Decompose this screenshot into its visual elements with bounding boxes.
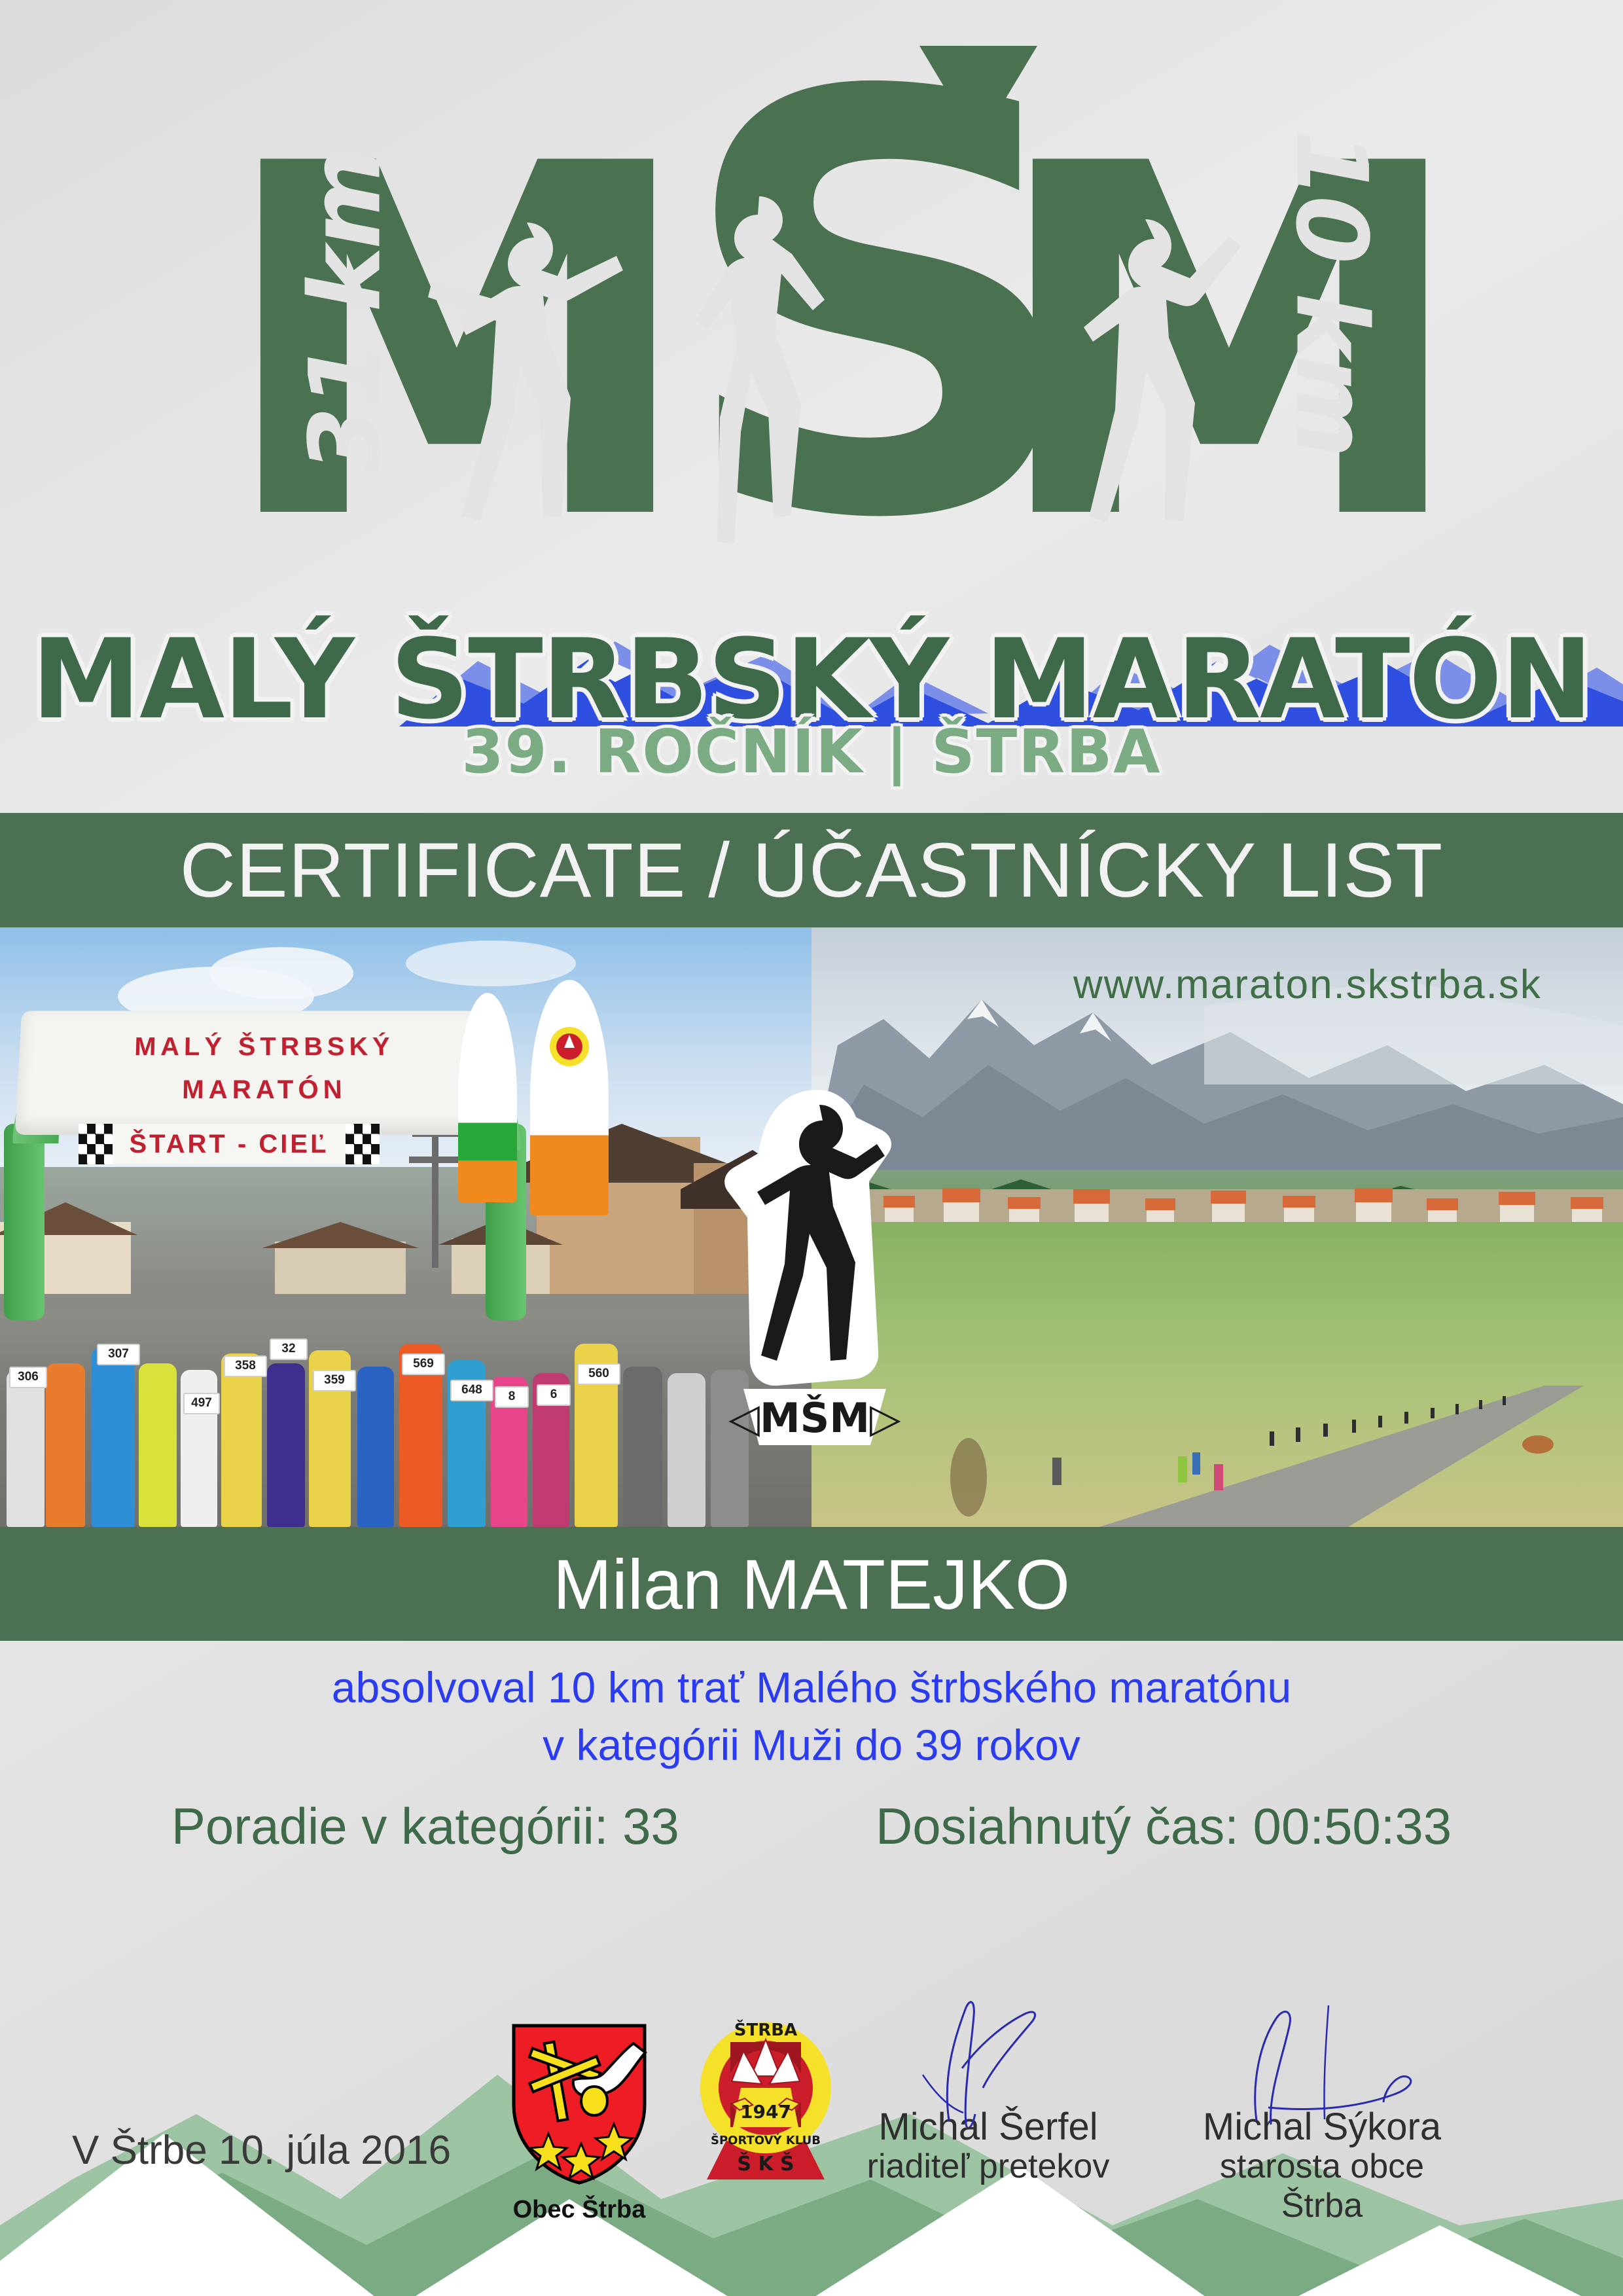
handwritten-signature-1 [844, 1996, 1132, 2127]
runner [139, 1363, 177, 1527]
sks-flag-emblem-icon [548, 1026, 590, 1067]
runner [623, 1367, 662, 1527]
signature-block-director: Michal Šerfel riaditeľ pretekov [844, 2108, 1132, 2187]
runner-crowd: 307 358 32 359 569 648 8 6 560 306 497 [0, 1239, 811, 1527]
start-finish-banner: ŠTART - CIEĽ [79, 1124, 380, 1164]
certificate-title: CERTIFICATE / ÚČASTNÍCKY LIST [180, 826, 1443, 915]
msm-logo: M S M 31 km 10 km [216, 39, 1427, 602]
bib-number: 497 [183, 1393, 220, 1414]
sks-top-text: ŠTRBA [734, 2019, 797, 2040]
description-line-1: absolvoval 10 km trať Malého štrbského m… [0, 1659, 1623, 1717]
finish-time: Dosiahnutý čas: 00:50:33 [876, 1797, 1452, 1856]
sks-arc-text: ŠPORTOVÝ KLUB [711, 2133, 821, 2147]
bib-number: 32 [270, 1338, 308, 1360]
issue-date: V Štrbe 10. júla 2016 [72, 2127, 451, 2174]
bib-number: 358 [224, 1355, 267, 1377]
event-subtitle: 39. ROČNÍK | ŠTRBA [0, 717, 1623, 787]
runner-silhouette-male-left [412, 203, 628, 609]
cloud [406, 941, 576, 986]
participant-name: Milan MATEJKO [553, 1543, 1070, 1625]
achievement-description: absolvoval 10 km trať Malého štrbského m… [0, 1659, 1623, 1774]
distance-left-label: 31 km [289, 149, 403, 475]
website-url[interactable]: www.maraton.skstrba.sk [1073, 961, 1542, 1008]
distant-runners [811, 1359, 1623, 1527]
category-rank: Poradie v kategórii: 33 [171, 1797, 679, 1856]
certificate-page: M S M 31 km 10 km [0, 0, 1623, 2296]
participant-name-band: Milan MATEJKO [0, 1527, 1623, 1641]
signer-role: starosta obce Štrba [1178, 2147, 1466, 2226]
sks-year: 1947 [740, 2101, 791, 2123]
photo-start-line: MALÝ ŠTRBSKÝ MARATÓN ŠTART - CIEĽ [0, 927, 811, 1527]
runner [92, 1347, 135, 1527]
runner [7, 1370, 45, 1527]
certificate-footer: V Štrbe 10. júla 2016 Obec Štrba [0, 2114, 1623, 2296]
teardrop-flag-tatry [458, 993, 517, 1202]
bib-number: 6 [537, 1384, 571, 1406]
handwritten-signature-2 [1178, 1996, 1466, 2127]
certificate-title-bar: CERTIFICATE / ÚČASTNÍCKY LIST [0, 813, 1623, 927]
signer-role: riaditeľ pretekov [844, 2147, 1132, 2187]
photo-course-landscape: www.maraton.skstrba.sk [811, 927, 1623, 1527]
runner [668, 1373, 705, 1527]
sks-bottom-text: Š K Š [737, 2151, 794, 2176]
runner [267, 1363, 305, 1527]
arch-line-1: MALÝ ŠTRBSKÝ [19, 1033, 510, 1062]
municipality-logo-caption: Obec Štrba [484, 2196, 674, 2224]
bib-number: 8 [495, 1386, 529, 1408]
arch-line-2: MARATÓN [16, 1075, 512, 1105]
bib-number: 648 [450, 1380, 493, 1401]
sticker-label: ◁MŠM▷ [728, 1394, 901, 1442]
runner-silhouette-female-center [668, 183, 844, 602]
bib-number: 560 [577, 1363, 620, 1385]
runner [221, 1354, 262, 1527]
sks-club-logo-icon: ŠTRBA 1947 ŠPORTOVÝ KLUB Š K Š [694, 2016, 838, 2179]
signature-block-mayor: Michal Sýkora starosta obce Štrba [1178, 2108, 1466, 2225]
distance-right-label: 10 km [1274, 130, 1388, 455]
msm-sticker: ◁MŠM▷ [720, 1086, 910, 1453]
description-line-2: v kategórii Muži do 39 rokov [0, 1717, 1623, 1774]
bib-number: 306 [9, 1367, 47, 1388]
bib-number: 569 [402, 1354, 445, 1375]
bib-number: 307 [97, 1344, 140, 1365]
start-finish-text: ŠTART - CIEĽ [79, 1130, 380, 1159]
runner [357, 1367, 394, 1527]
arch-banner: MALÝ ŠTRBSKÝ MARATÓN [15, 1011, 514, 1135]
teardrop-flag-sks [530, 980, 609, 1215]
runner [46, 1363, 85, 1527]
cloud [209, 947, 353, 999]
runner-silhouette-male-right [1041, 203, 1257, 596]
logo-block: M S M 31 km 10 km [0, 0, 1623, 813]
results-row: Poradie v kategórii: 33 Dosiahnutý čas: … [0, 1797, 1623, 1856]
bib-number: 359 [313, 1370, 356, 1391]
obec-strba-coat-of-arms-icon [510, 2022, 648, 2186]
